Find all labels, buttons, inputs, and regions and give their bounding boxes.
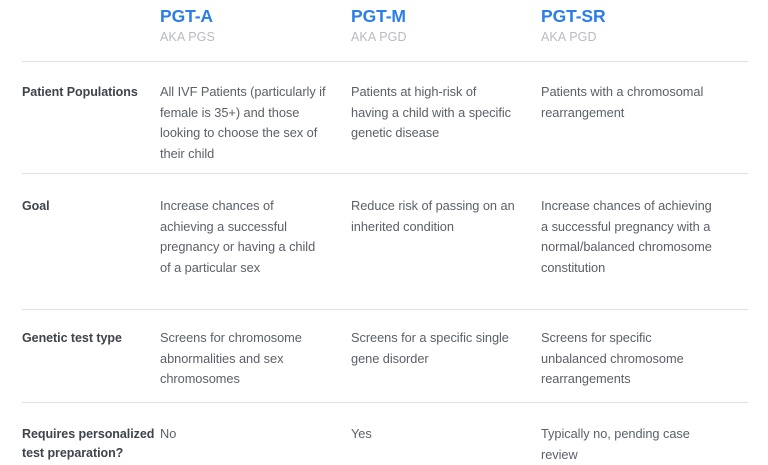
row-label-cell: Requires personalized test preparation?: [0, 424, 160, 463]
row-cell-pgt-a: All IVF Patients (particularly if female…: [160, 82, 351, 164]
row-label: Patient Populations: [22, 82, 160, 102]
row-cell-pgt-a: Screens for chromosome abnormalities and…: [160, 328, 351, 390]
row-label: Goal: [22, 196, 160, 216]
table-row: Patient Populations All IVF Patients (pa…: [0, 82, 768, 164]
row-cell-pgt-sr: Increase chances of achieving a successf…: [541, 196, 741, 278]
cell-value: Increase chances of achieving a successf…: [160, 196, 327, 278]
row-cell-pgt-sr: Typically no, pending case review: [541, 424, 741, 465]
cell-value: Screens for a specific single gene disor…: [351, 328, 517, 369]
column-header-pgt-sr: PGT-SR AKA PGD: [541, 5, 741, 45]
column-header-pgt-a: PGT-A AKA PGS: [160, 5, 351, 45]
row-divider: [22, 173, 748, 174]
cell-value: All IVF Patients (particularly if female…: [160, 82, 327, 164]
row-cell-pgt-sr: Screens for specific unbalanced chromoso…: [541, 328, 741, 390]
cell-value: Screens for specific unbalanced chromoso…: [541, 328, 717, 390]
row-label-cell: Goal: [0, 196, 160, 216]
row-label: Genetic test type: [22, 328, 160, 348]
cell-value: Increase chances of achieving a successf…: [541, 196, 717, 278]
cell-value: Patients with a chromosomal rearrangemen…: [541, 82, 717, 123]
pgt-comparison-table: PGT-A AKA PGS PGT-M AKA PGD PGT-SR AKA P…: [0, 0, 768, 461]
row-cell-pgt-m: Yes: [351, 424, 541, 445]
row-cell-pgt-a: No: [160, 424, 351, 445]
row-divider: [22, 309, 748, 310]
column-header-pgt-m: PGT-M AKA PGD: [351, 5, 541, 45]
column-title: PGT-A: [160, 5, 327, 27]
table-row: Requires personalized test preparation? …: [0, 424, 768, 465]
row-label-cell: Genetic test type: [0, 328, 160, 348]
row-cell-pgt-m: Screens for a specific single gene disor…: [351, 328, 541, 369]
cell-value: Patients at high-risk of having a child …: [351, 82, 517, 144]
column-subtitle: AKA PGD: [541, 29, 717, 45]
column-title: PGT-M: [351, 5, 517, 27]
table-row: Goal Increase chances of achieving a suc…: [0, 196, 768, 278]
cell-value: Typically no, pending case review: [541, 424, 717, 465]
table-row: Genetic test type Screens for chromosome…: [0, 328, 768, 390]
row-label-cell: Patient Populations: [0, 82, 160, 102]
row-cell-pgt-m: Patients at high-risk of having a child …: [351, 82, 541, 144]
cell-value: Yes: [351, 424, 517, 445]
cell-value: Reduce risk of passing on an inherited c…: [351, 196, 517, 237]
row-divider: [22, 402, 748, 403]
cell-value: No: [160, 424, 327, 445]
column-title: PGT-SR: [541, 5, 717, 27]
column-subtitle: AKA PGS: [160, 29, 327, 45]
row-cell-pgt-m: Reduce risk of passing on an inherited c…: [351, 196, 541, 237]
table-header-row: PGT-A AKA PGS PGT-M AKA PGD PGT-SR AKA P…: [0, 5, 768, 45]
row-label: Requires personalized test preparation?: [22, 424, 160, 463]
column-subtitle: AKA PGD: [351, 29, 517, 45]
row-divider: [22, 61, 748, 62]
cell-value: Screens for chromosome abnormalities and…: [160, 328, 327, 390]
row-cell-pgt-sr: Patients with a chromosomal rearrangemen…: [541, 82, 741, 123]
row-cell-pgt-a: Increase chances of achieving a successf…: [160, 196, 351, 278]
